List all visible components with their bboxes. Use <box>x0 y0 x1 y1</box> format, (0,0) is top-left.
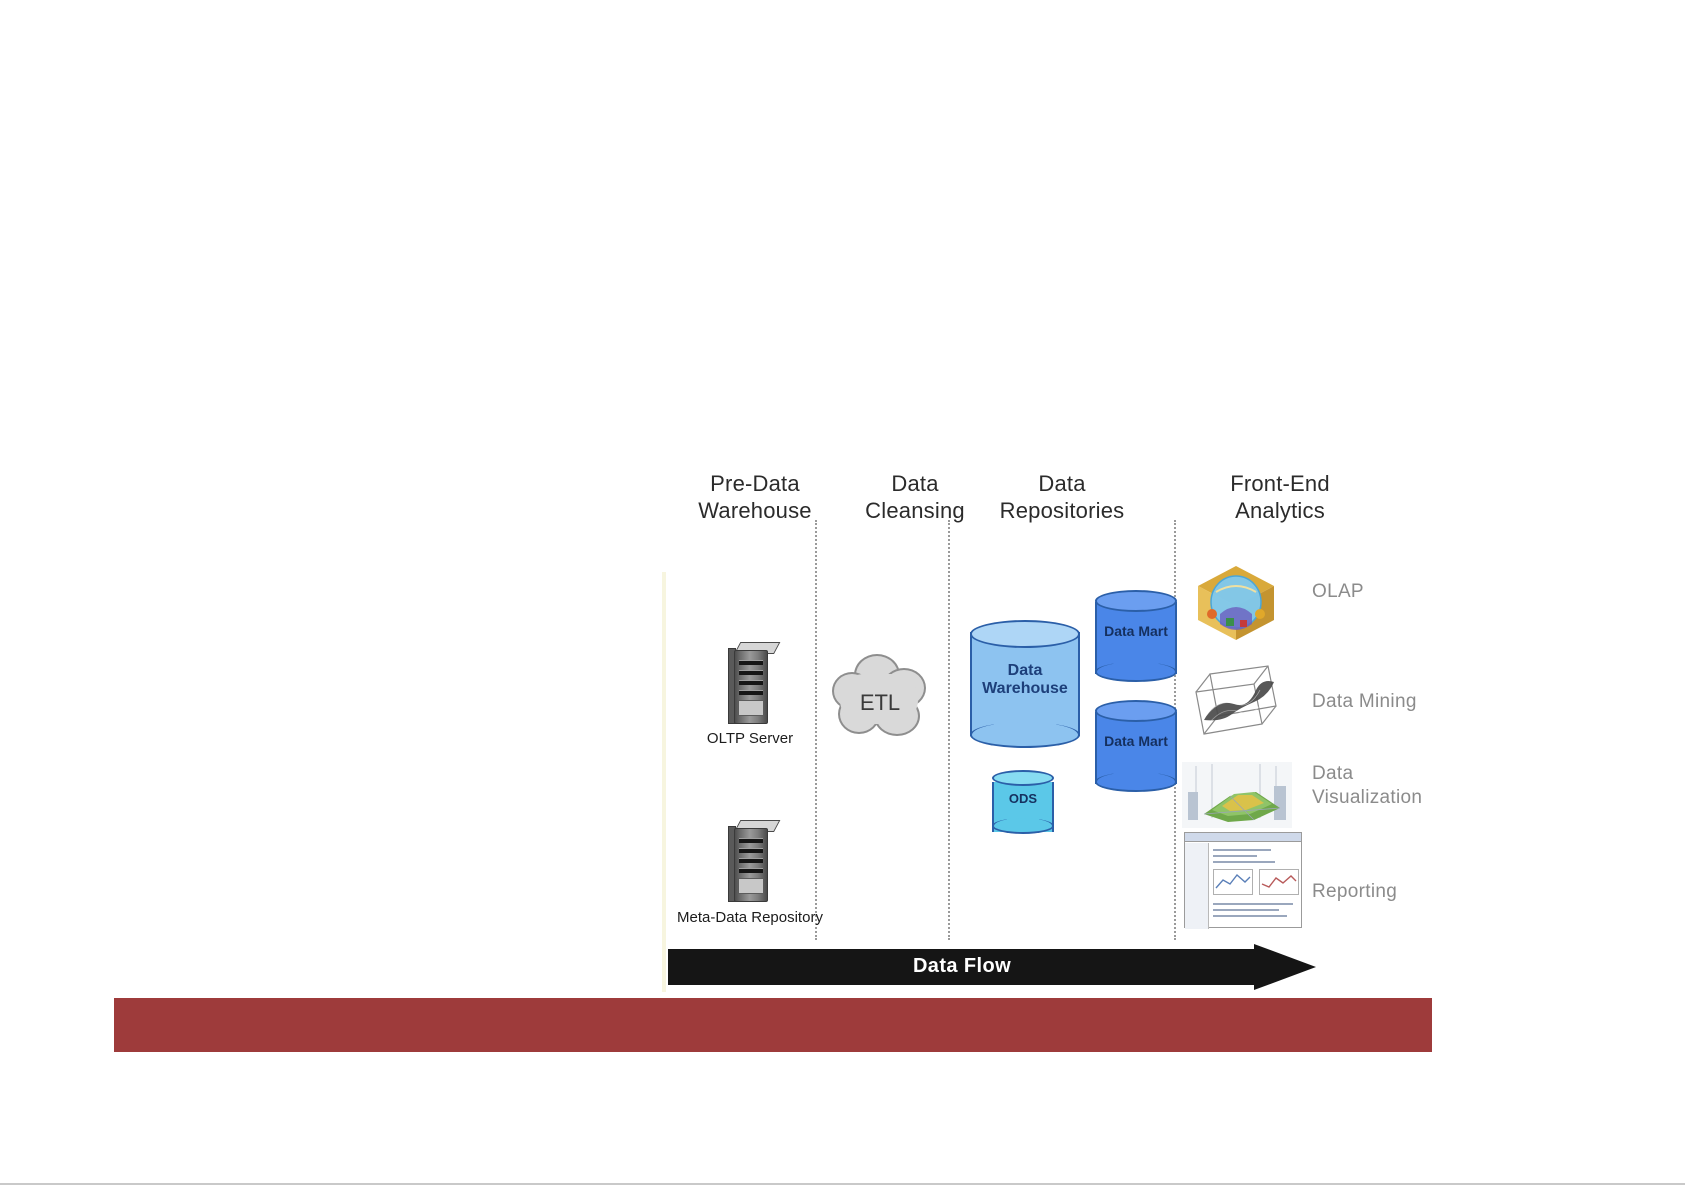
mesh-surface-icon <box>1188 658 1284 744</box>
server-icon <box>728 642 774 724</box>
source-label-oltp-server: OLTP Server <box>655 730 845 747</box>
data-warehouse-architecture-diagram: Pre-Data Warehouse Data Cleansing Data R… <box>660 462 1450 992</box>
cylinder-icon-data-warehouse: Data Warehouse <box>970 620 1080 748</box>
column-header-data-repositories: Data Repositories <box>952 470 1172 524</box>
slide-banner-bar <box>114 998 1432 1052</box>
data-flow-label: Data Flow <box>668 955 1256 978</box>
analytics-label-data-mining: Data Mining <box>1312 690 1417 714</box>
cylinder-label-ods: ODS <box>992 792 1054 807</box>
analytics-label-olap: OLAP <box>1312 580 1364 604</box>
data-flow-arrow: Data Flow <box>668 944 1318 990</box>
cylinder-label-data-warehouse: Data Warehouse <box>970 662 1080 699</box>
analytics-label-reporting: Reporting <box>1312 880 1397 904</box>
column-header-front-end-analytics: Front-End Analytics <box>1180 470 1380 524</box>
surface-plot-icon <box>1182 762 1292 828</box>
cylinder-icon-data-mart-2: Data Mart <box>1095 700 1177 792</box>
olap-cube-icon <box>1190 562 1282 644</box>
bottom-rule <box>0 1183 1685 1185</box>
etl-label: ETL <box>832 690 928 716</box>
analytics-label-data-visualization: Data Visualization <box>1312 762 1422 810</box>
server-icon <box>728 820 774 902</box>
source-label-meta-data-repository: Meta-Data Repository <box>655 909 845 926</box>
arrow-head-icon <box>1254 944 1316 990</box>
column-divider-2 <box>948 520 950 940</box>
report-window-icon <box>1184 832 1302 928</box>
cylinder-icon-ods: ODS <box>992 770 1054 834</box>
cloud-icon: ETL <box>832 652 928 740</box>
slide-page: Pre-Data Warehouse Data Cleansing Data R… <box>0 0 1685 1192</box>
left-guide-line <box>662 572 666 992</box>
cylinder-label-data-mart-2: Data Mart <box>1095 733 1177 749</box>
cylinder-icon-data-mart-1: Data Mart <box>1095 590 1177 682</box>
cylinder-label-data-mart-1: Data Mart <box>1095 623 1177 639</box>
